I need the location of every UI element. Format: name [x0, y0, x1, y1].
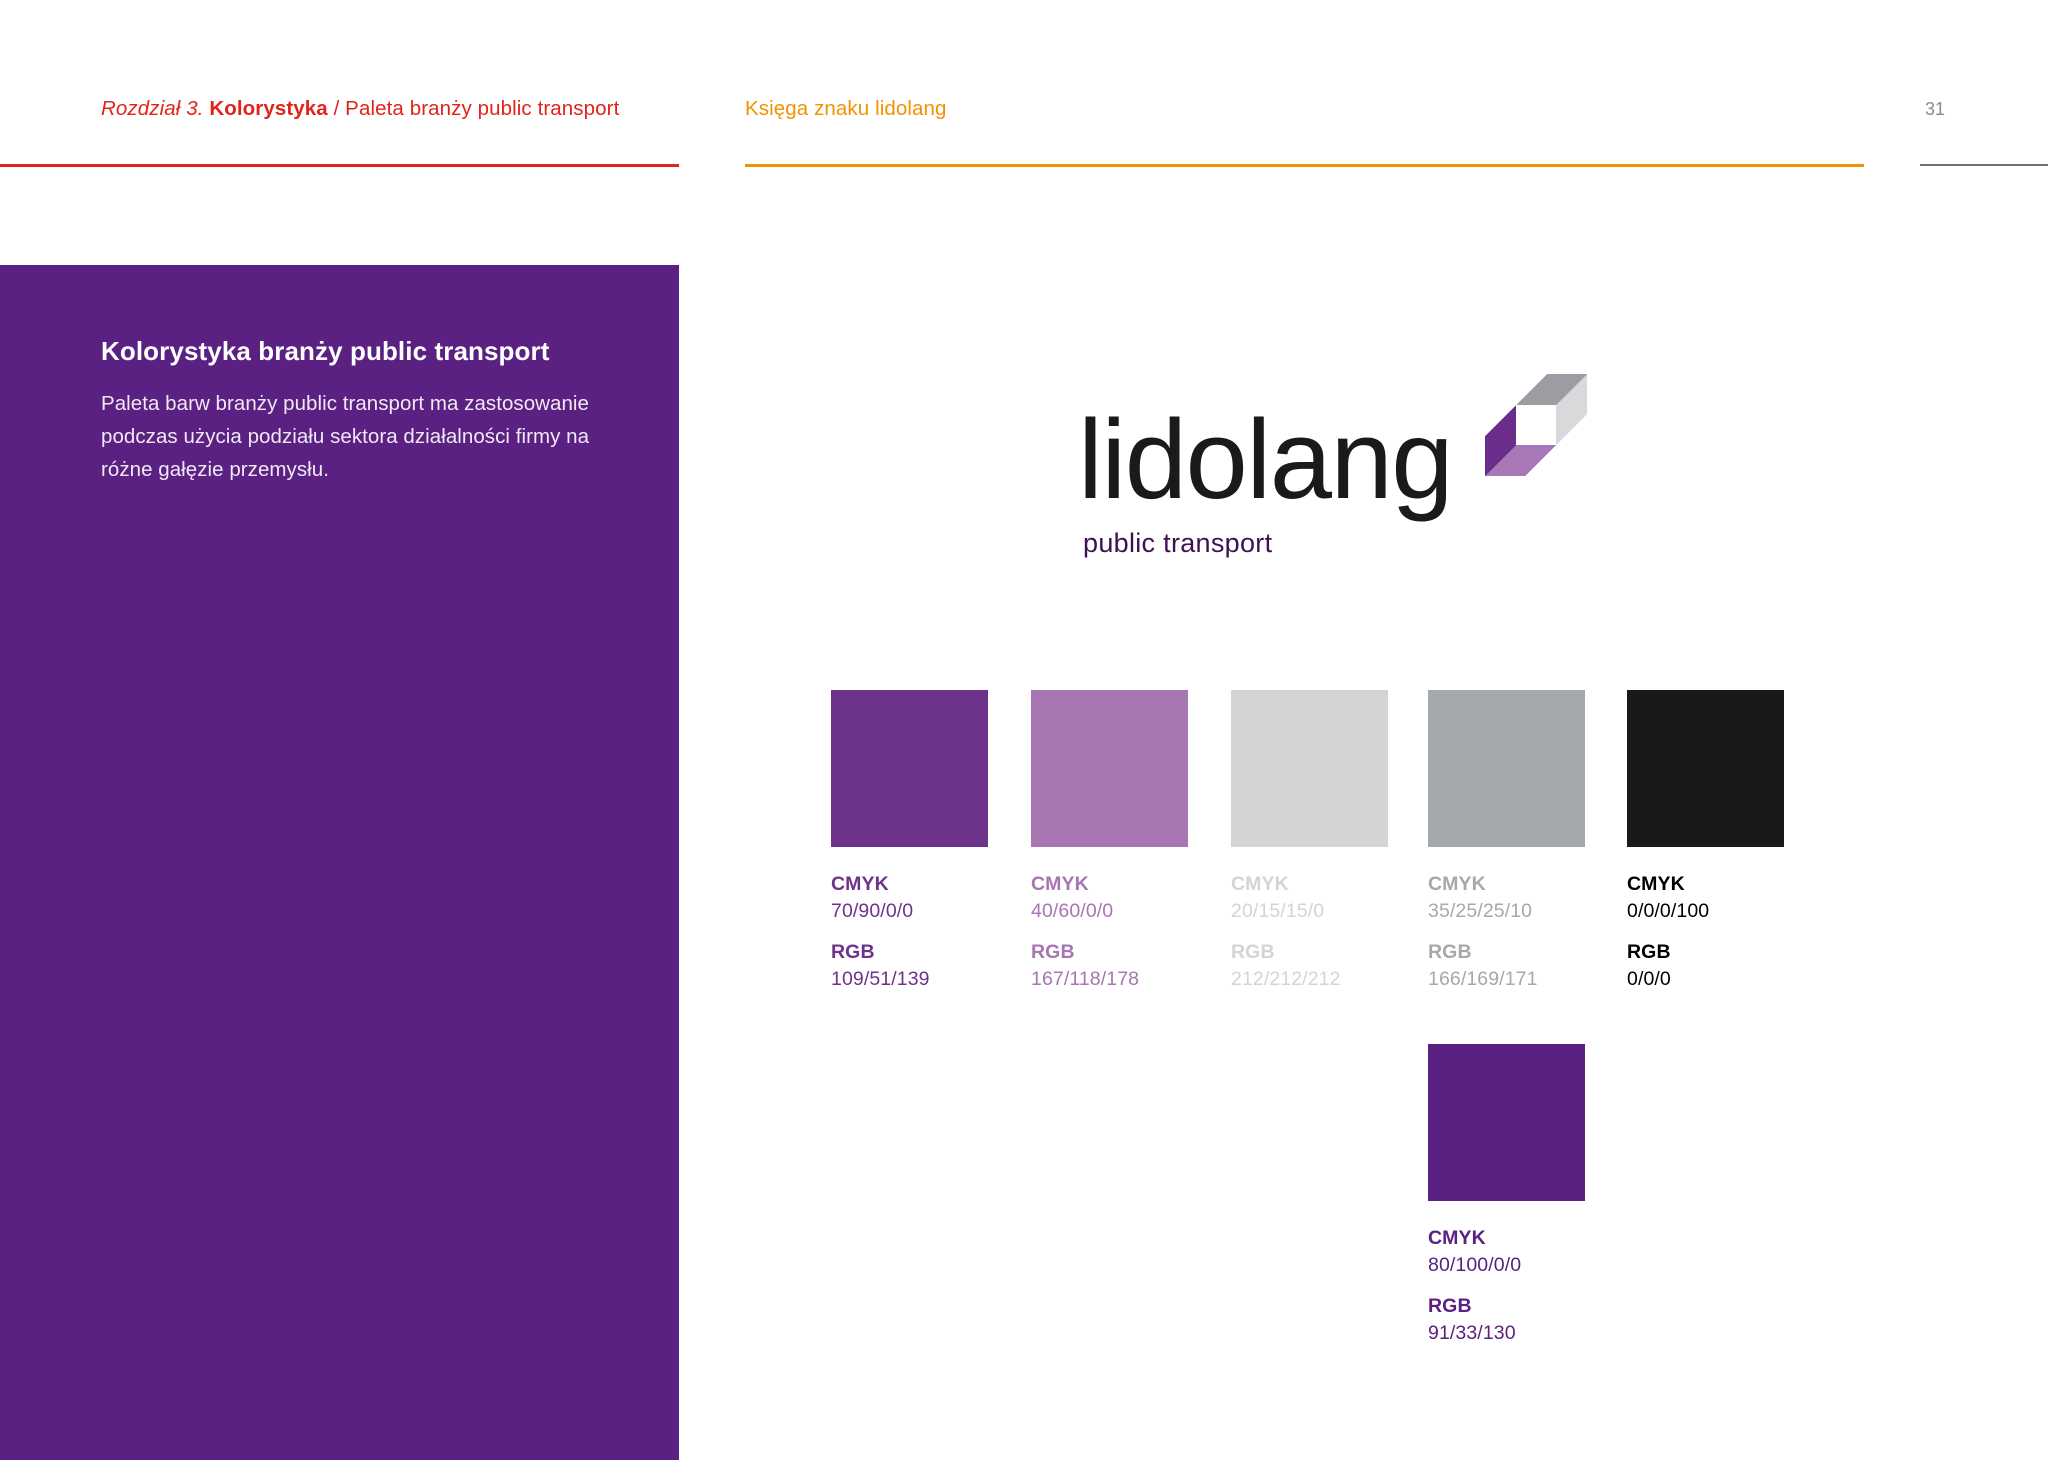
cmyk-label: CMYK	[831, 871, 991, 898]
cmyk-label: CMYK	[1627, 871, 1787, 898]
breadcrumb-subtitle: Paleta branży public transport	[345, 97, 619, 120]
sidebar-panel: Kolorystyka branży public transport Pale…	[0, 265, 679, 1460]
cmyk-value: 0/0/0/100	[1627, 898, 1787, 925]
color-chip[interactable]	[1627, 690, 1784, 847]
rgb-label: RGB	[1231, 939, 1391, 966]
rule-red	[0, 164, 679, 167]
cmyk-label: CMYK	[1231, 871, 1391, 898]
color-chip[interactable]	[1231, 690, 1388, 847]
rule-orange	[745, 164, 1864, 167]
isometric-cube-icon	[1482, 371, 1587, 476]
color-chip[interactable]	[831, 690, 988, 847]
logo-wordmark: lidolang	[1078, 404, 1452, 516]
cmyk-label: CMYK	[1428, 871, 1588, 898]
color-chip[interactable]	[1428, 1044, 1585, 1201]
rule-gray	[1920, 164, 2048, 166]
sidebar-heading: Kolorystyka branży public transport	[101, 335, 621, 368]
rgb-label: RGB	[1428, 1293, 1588, 1320]
breadcrumb: Rozdział 3. Kolorystyka / Paleta branży …	[101, 97, 619, 121]
color-chip[interactable]	[1031, 690, 1188, 847]
cmyk-value: 80/100/0/0	[1428, 1252, 1588, 1279]
rgb-value: 91/33/130	[1428, 1320, 1588, 1347]
logo-lockup: lidolang public transport	[1078, 372, 1578, 572]
breadcrumb-separator: /	[328, 97, 345, 120]
swatch-cell[interactable]: CMYK 20/15/15/0 RGB 212/212/212	[1231, 690, 1391, 992]
document-title: Księga znaku lidolang	[745, 97, 947, 121]
rgb-label: RGB	[1428, 939, 1588, 966]
swatch-cell[interactable]: CMYK 40/60/0/0 RGB 167/118/178	[1031, 690, 1191, 992]
rgb-label: RGB	[1627, 939, 1787, 966]
cmyk-label: CMYK	[1428, 1225, 1588, 1252]
rgb-label: RGB	[1031, 939, 1191, 966]
cmyk-value: 20/15/15/0	[1231, 898, 1391, 925]
swatch-spec: CMYK 40/60/0/0 RGB 167/118/178	[1031, 871, 1191, 992]
swatch-spec: CMYK 80/100/0/0 RGB 91/33/130	[1428, 1225, 1588, 1346]
swatch-cell[interactable]: CMYK 35/25/25/10 RGB 166/169/171	[1428, 690, 1588, 992]
rgb-value: 167/118/178	[1031, 966, 1191, 993]
cmyk-label: CMYK	[1031, 871, 1191, 898]
swatch-cell[interactable]: CMYK 80/100/0/0 RGB 91/33/130	[1428, 1044, 1588, 1346]
breadcrumb-chapter: Rozdział 3.	[101, 97, 204, 120]
rgb-value: 212/212/212	[1231, 966, 1391, 993]
rgb-value: 166/169/171	[1428, 966, 1588, 993]
page-header: Rozdział 3. Kolorystyka / Paleta branży …	[0, 0, 2048, 170]
rgb-label: RGB	[831, 939, 991, 966]
cmyk-value: 40/60/0/0	[1031, 898, 1191, 925]
page-number: 31	[1925, 99, 1945, 120]
color-chip[interactable]	[1428, 690, 1585, 847]
swatch-spec: CMYK 20/15/15/0 RGB 212/212/212	[1231, 871, 1391, 992]
breadcrumb-section: Kolorystyka	[209, 97, 327, 120]
rgb-value: 109/51/139	[831, 966, 991, 993]
swatch-spec: CMYK 70/90/0/0 RGB 109/51/139	[831, 871, 991, 992]
swatch-cell[interactable]: CMYK 0/0/0/100 RGB 0/0/0	[1627, 690, 1787, 992]
swatch-cell[interactable]: CMYK 70/90/0/0 RGB 109/51/139	[831, 690, 991, 992]
cmyk-value: 70/90/0/0	[831, 898, 991, 925]
rgb-value: 0/0/0	[1627, 966, 1787, 993]
swatch-spec: CMYK 0/0/0/100 RGB 0/0/0	[1627, 871, 1787, 992]
logo-tagline: public transport	[1083, 530, 1272, 557]
sidebar-body-text: Paleta barw branży public transport ma z…	[101, 387, 631, 487]
cmyk-value: 35/25/25/10	[1428, 898, 1588, 925]
swatch-spec: CMYK 35/25/25/10 RGB 166/169/171	[1428, 871, 1588, 992]
